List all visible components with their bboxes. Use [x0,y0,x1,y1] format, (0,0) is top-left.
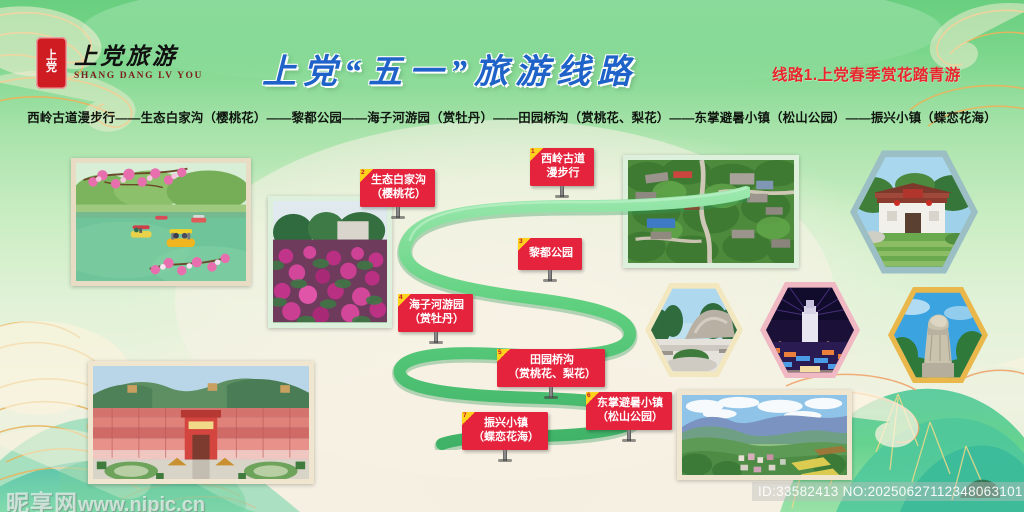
stop-label-line1: 黎都公园 [529,247,573,261]
brand-text: 上党旅游 SHANG DANG LV YOU [74,45,203,81]
stop-badge: 3 [518,238,531,251]
poster-canvas: 上 党 上党旅游 SHANG DANG LV YOU 上党“五一”旅游线路 线路… [0,0,1024,512]
seal-stamp-icon: 上 党 [36,37,67,89]
watermark-site-url: www.nipic.cn [78,494,205,512]
stop-label-line2: （松山公园） [597,411,663,425]
route-stop-3[interactable]: 3 黎都公园 [518,238,582,270]
sign-post [560,186,564,197]
route-stop-2[interactable]: 2 生态白家沟 （樱桃花） [360,169,435,207]
brand-name-en: SHANG DANG LV YOU [74,71,203,81]
stop-badge: 4 [398,294,411,307]
sign-post [503,450,507,461]
sign-post [434,332,438,343]
photo-red-roof-town [88,361,314,484]
watermark-site: 昵享网www.nipic.cn [6,484,205,512]
stop-label-line2: （樱桃花） [371,188,426,202]
stop-label-line2: （蝶恋花海） [473,431,539,445]
stop-badge: 7 [462,412,475,425]
poster-header: 上 党 上党旅游 SHANG DANG LV YOU 上党“五一”旅游线路 线路… [0,0,1024,100]
route-subtitle: 线路1.上党春季赏花踏青游 [772,63,961,85]
stop-label-line1: 振兴小镇 [473,417,539,431]
sign-post [548,270,552,281]
sign-post [627,430,631,441]
route-stop-4[interactable]: 4 海子河游园 （赏牡丹） [398,294,473,332]
route-stop-6[interactable]: 6 东掌避暑小镇 （松山公园） [586,392,672,430]
stop-label-line1: 田园桥沟 [508,354,596,368]
route-stop-1[interactable]: 1 西岭古道 漫步行 [530,148,594,186]
watermark-id: ID:33582413 NO:20250627112348063101 [752,482,1024,501]
stop-label-line1: 东掌避暑小镇 [597,397,663,411]
stop-badge: 2 [360,169,373,182]
route-stop-7[interactable]: 7 振兴小镇 （蝶恋花海） [462,412,548,450]
sign-post [549,387,553,398]
stop-label-line2: （赏牡丹） [409,313,464,327]
photo-night-city [760,280,860,380]
stop-badge: 5 [497,349,510,362]
stop-badge: 6 [586,392,599,405]
stop-label-line1: 生态白家沟 [371,174,426,188]
photo-temple-gate [850,148,978,276]
sign-post [396,207,400,218]
stop-badge: 1 [530,148,543,161]
watermark-site-cn: 昵享网 [6,491,78,512]
photo-lake-boats [71,158,251,286]
stop-label-line1: 西岭古道 [541,153,585,167]
stop-label-line2: 漫步行 [541,167,585,181]
stop-label-line1: 海子河游园 [409,299,464,313]
seal-char-2: 党 [46,62,57,75]
brand-logo: 上 党 上党旅游 SHANG DANG LV YOU [36,37,203,89]
stop-label-line2: （赏桃花、梨花） [508,368,596,382]
route-stop-5[interactable]: 5 田园桥沟 （赏桃花、梨花） [497,349,605,387]
page-title: 上党“五一”旅游线路 [262,44,638,93]
brand-name-cn: 上党旅游 [74,45,203,69]
route-itinerary-text: 西岭古道漫步行——生态白家沟（樱桃花）——黎都公园——海子河游园（赏牡丹）——田… [0,108,1024,126]
photo-stone-statue [888,285,988,385]
